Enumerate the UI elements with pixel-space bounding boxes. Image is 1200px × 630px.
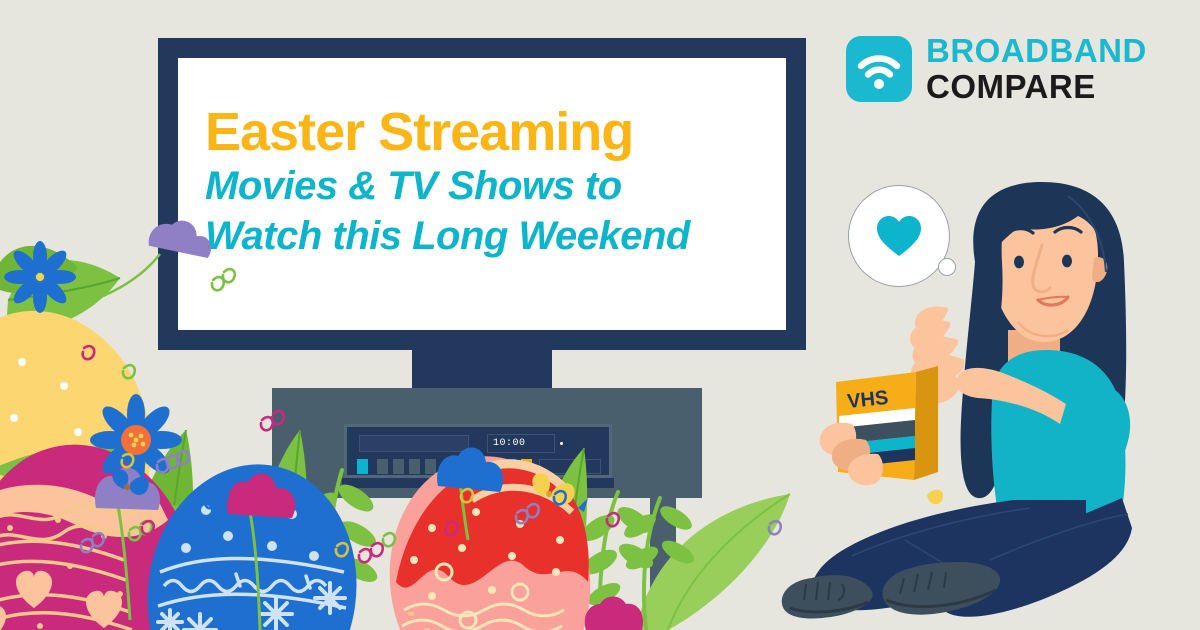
heart-icon — [876, 215, 922, 257]
brand-name-line-2: COMPARE — [926, 70, 1147, 103]
magenta-egg — [0, 427, 216, 630]
vcr-player[interactable]: 10:00 — [344, 424, 612, 478]
vcr-right-panel — [539, 459, 601, 474]
vcr-tape-slot[interactable] — [359, 435, 469, 452]
vcr-button-2[interactable] — [393, 459, 404, 474]
brand-logo[interactable]: BROADBAND COMPARE — [846, 34, 1147, 103]
vcr-button-4[interactable] — [425, 459, 436, 474]
thought-bubble-dot — [938, 258, 956, 276]
tv-stand-leg-right — [650, 414, 676, 617]
headline-block: Easter Streaming Movies & TV Shows to Wa… — [205, 104, 775, 261]
yellow-petal-right — [927, 490, 943, 505]
hand-lower — [820, 423, 883, 485]
hand-upper — [910, 306, 964, 403]
headline-line-1: Easter Streaming — [205, 104, 775, 161]
blue-butterfly — [112, 469, 148, 495]
brand-name: BROADBAND COMPARE — [926, 34, 1147, 103]
vhs-tape: VHS — [836, 366, 938, 480]
wifi-icon — [846, 36, 912, 102]
poster-canvas: Easter Streaming Movies & TV Shows to Wa… — [0, 0, 1200, 630]
brand-name-line-1: BROADBAND — [926, 34, 1147, 67]
vcr-shadow-strip — [342, 478, 614, 488]
vcr-button-3[interactable] — [409, 459, 420, 474]
purple-tulip-lower — [95, 467, 160, 620]
vcr-button-5[interactable] — [451, 459, 462, 474]
blue-leaflet — [578, 498, 588, 512]
tv-stand-leg-left — [282, 414, 308, 617]
blue-star-flower — [4, 241, 76, 313]
television-pedestal — [412, 350, 552, 388]
headline-line-2: Movies & TV Shows to — [205, 161, 775, 211]
tv-stand-top — [272, 388, 702, 414]
vcr-button-amber[interactable] — [521, 459, 532, 474]
vcr-clock-display: 10:00 — [487, 434, 555, 453]
headline-line-3: Watch this Long Weekend — [205, 211, 775, 261]
vcr-indicator-dot — [560, 442, 563, 445]
shoe-left — [782, 575, 873, 618]
vcr-button-power[interactable] — [357, 459, 368, 474]
blue-daisy — [90, 394, 182, 486]
thought-bubble — [848, 185, 950, 287]
vcr-button-1[interactable] — [377, 459, 388, 474]
vhs-label: VHS — [846, 387, 889, 413]
shoe-right — [882, 562, 1000, 615]
vcr-button-cyan[interactable] — [505, 459, 516, 474]
vcr-button-6[interactable] — [467, 459, 478, 474]
pink-tulip-bottom — [585, 597, 643, 630]
